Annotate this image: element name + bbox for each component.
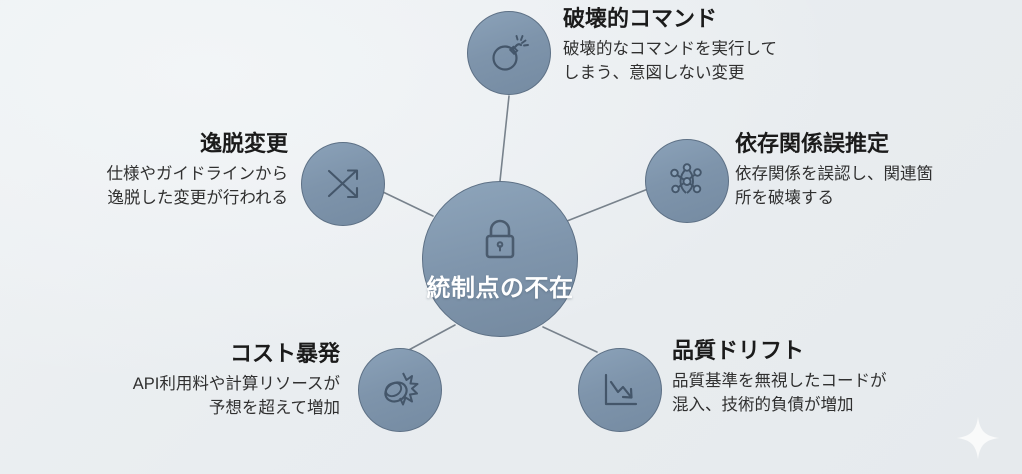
center-node-label: 統制点の不在 [427, 268, 574, 303]
text-quality-drift: 品質ドリフト 品質基準を無視したコードが 混入、技術的負債が増加 [672, 338, 972, 418]
lock-icon [478, 216, 522, 262]
node-title: 逸脱変更 [20, 131, 288, 156]
network-graph-icon [664, 158, 710, 204]
node-desc: 破壊的なコマンドを実行して しまう、意図しない変更 [563, 38, 863, 86]
node-title: 依存関係誤推定 [735, 131, 1020, 156]
text-dependency-misestimation: 依存関係誤推定 依存関係を誤認し、関連箇 所を破壊する [735, 131, 1020, 211]
bomb-icon [486, 30, 532, 76]
chart-down-icon [597, 367, 643, 413]
link-center-to-top [500, 96, 509, 181]
diagram-canvas: 統制点の不在 破壊的コマンド 破壊的なコマンドを実行して しまう、意図しない変更 [0, 0, 1022, 474]
center-node[interactable]: 統制点の不在 [422, 181, 578, 337]
node-quality-drift[interactable] [578, 348, 662, 432]
node-cost-explosion[interactable] [358, 348, 442, 432]
link-center-to-botright [543, 327, 597, 352]
link-center-to-botleft [405, 325, 455, 352]
node-desc: 仕様やガイドラインから 逸脱した変更が行われる [20, 163, 288, 211]
coin-explosion-icon [376, 366, 424, 414]
node-desc: 依存関係を誤認し、関連箇 所を破壊する [735, 163, 1020, 211]
shuffle-arrows-icon [320, 161, 366, 207]
node-destructive-command[interactable] [467, 11, 551, 95]
node-title: コスト暴発 [50, 341, 340, 366]
node-desc: 品質基準を無視したコードが 混入、技術的負債が増加 [672, 370, 972, 418]
node-desc: API利用料や計算リソースが 予想を超えて増加 [50, 373, 340, 421]
node-title: 破壊的コマンド [563, 6, 863, 31]
link-center-to-left [383, 192, 433, 216]
text-cost-explosion: コスト暴発 API利用料や計算リソースが 予想を超えて増加 [50, 341, 340, 421]
link-center-to-right [567, 189, 648, 221]
text-deviation-change: 逸脱変更 仕様やガイドラインから 逸脱した変更が行われる [20, 131, 288, 211]
node-dependency-misestimation[interactable] [645, 139, 729, 223]
node-title: 品質ドリフト [672, 338, 972, 363]
node-deviation-change[interactable] [301, 142, 385, 226]
text-destructive-command: 破壊的コマンド 破壊的なコマンドを実行して しまう、意図しない変更 [563, 6, 863, 86]
sparkle-icon [955, 415, 1001, 461]
